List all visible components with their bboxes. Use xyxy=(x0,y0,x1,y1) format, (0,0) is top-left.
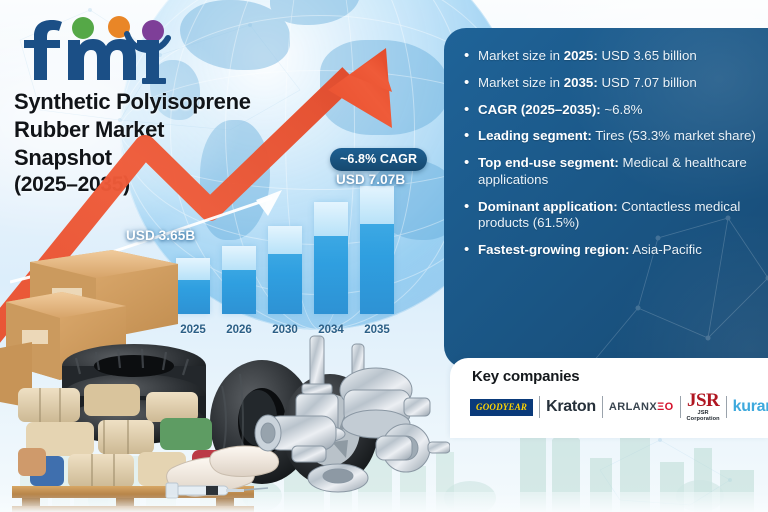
company-logo-jsr: JSR JSR Corporation xyxy=(681,394,726,420)
highlight-text-0: Market size in xyxy=(478,48,564,63)
key-companies-title: Key companies xyxy=(472,368,579,385)
arlanxeo-text: ARLANX xyxy=(609,401,657,413)
company-logo-arlanxeo: ARLANXΞO xyxy=(603,394,680,420)
highlight-value-2: ~6.8% xyxy=(601,102,643,117)
highlight-value-3: Tires (53.3% market share) xyxy=(592,128,756,143)
company-logo-row: GOODYEAR Kraton ARLANXΞO JSR JSR Corpora… xyxy=(464,394,762,420)
arlanxeo-wordmark: ARLANXΞO xyxy=(609,401,674,413)
company-logo-goodyear: GOODYEAR xyxy=(464,394,539,420)
kuraray-wordmark: kuraray xyxy=(733,398,768,416)
highlight-market-size-2035: Market size in 2035: USD 7.07 billion xyxy=(464,75,758,92)
highlight-value-0: USD 3.65 billion xyxy=(598,48,697,63)
highlight-value-1: USD 7.07 billion xyxy=(598,75,697,90)
jsr-wordmark: JSR xyxy=(687,391,720,410)
highlights-list: Market size in 2025: USD 3.65 billion Ma… xyxy=(464,48,758,269)
highlight-bold-4: Top end-use segment: xyxy=(478,155,619,170)
kraton-wordmark: Kraton xyxy=(546,398,596,416)
highlight-dominant-application: Dominant application: Contactless medica… xyxy=(464,199,758,233)
highlight-bold-2: CAGR (2025–2035): xyxy=(478,102,601,117)
end-value-label: USD 7.07B xyxy=(336,172,405,187)
key-companies-card: Key companies GOODYEAR Kraton ARLANXΞO J… xyxy=(450,358,768,438)
company-logo-kraton: Kraton xyxy=(540,394,602,420)
cagr-badge: ~6.8% CAGR xyxy=(330,148,427,171)
highlight-bold-6: Fastest-growing region: xyxy=(478,242,629,257)
highlight-bold-5: Dominant application: xyxy=(478,199,618,214)
jsr-subtitle: JSR Corporation xyxy=(687,411,720,422)
highlight-leading-segment: Leading segment: Tires (53.3% market sha… xyxy=(464,128,758,145)
jsr-wordmark-wrap: JSR JSR Corporation xyxy=(687,391,720,422)
highlight-text-1: Market size in xyxy=(478,75,564,90)
company-logo-kuraray: kuraray xyxy=(727,394,768,420)
highlight-cagr: CAGR (2025–2035): ~6.8% xyxy=(464,102,758,119)
highlight-fastest-growing-region: Fastest-growing region: Asia-Pacific xyxy=(464,242,758,259)
highlight-market-size-2025: Market size in 2025: USD 3.65 billion xyxy=(464,48,758,65)
product-collage xyxy=(0,240,450,512)
arlanxeo-suffix: ΞO xyxy=(657,401,673,413)
highlights-panel: Market size in 2025: USD 3.65 billion Ma… xyxy=(444,28,768,368)
highlight-bold-3: Leading segment: xyxy=(478,128,592,143)
highlight-bold-0: 2025 xyxy=(564,48,594,63)
highlight-top-end-use: Top end-use segment: Medical & healthcar… xyxy=(464,155,758,189)
bottom-fade xyxy=(0,494,768,512)
goodyear-wordmark: GOODYEAR xyxy=(470,399,533,416)
highlight-bold-1: 2035 xyxy=(564,75,594,90)
infographic-root: Synthetic Polyisoprene Rubber Market Sna… xyxy=(0,0,768,512)
highlight-value-6: Asia-Pacific xyxy=(629,242,701,257)
